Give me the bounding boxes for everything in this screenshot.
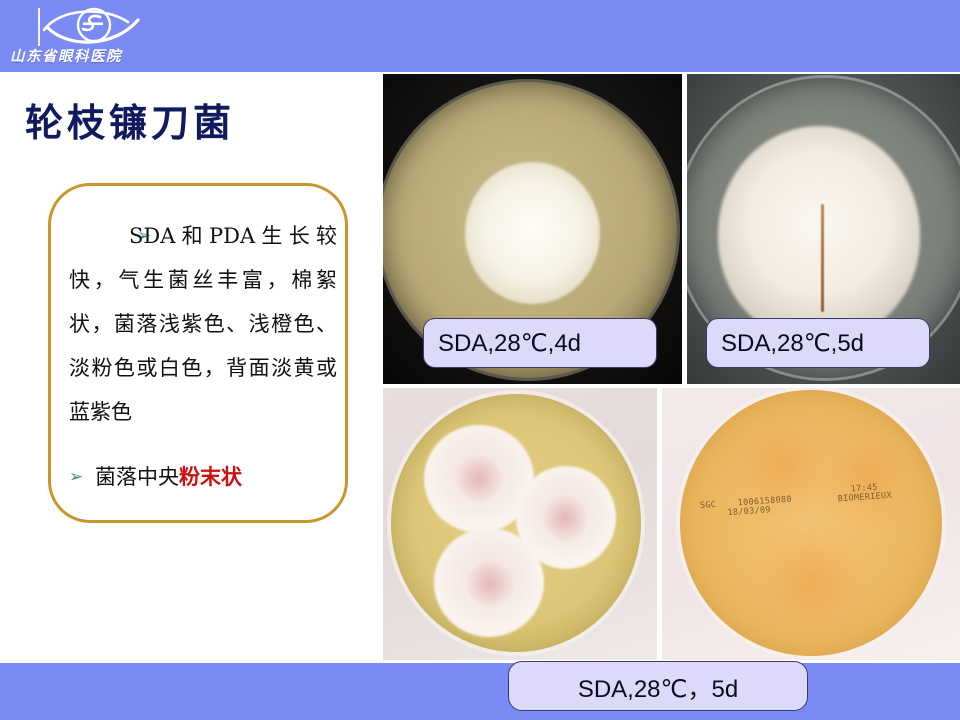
description-bullet-2: ➢菌落中央粉末状 bbox=[69, 455, 337, 499]
colony-reverse-blot bbox=[753, 528, 868, 634]
petri-dish bbox=[391, 394, 641, 652]
petri-dish-photo-reverse: SGC 1006158080 18/03/0917:45 BIOMERIEUX bbox=[662, 388, 960, 660]
description-bullet-1: ➢SDA和PDA生长较快，气生菌丝丰富，棉絮状，菌落浅紫色、浅橙色、淡粉色或白色… bbox=[69, 214, 337, 434]
petri-dish-photo-three-colonies bbox=[383, 388, 657, 660]
plate-stamp-right: 17:45 BIOMERIEUX bbox=[837, 483, 892, 505]
colony-center bbox=[457, 457, 501, 500]
description-content: ➢SDA和PDA生长较快，气生菌丝丰富，棉絮状，菌落浅紫色、浅橙色、淡粉色或白色… bbox=[69, 214, 337, 520]
colony-streak bbox=[821, 204, 824, 312]
colony-center bbox=[544, 497, 586, 540]
hospital-logo: 山东省眼科医院 bbox=[8, 2, 153, 70]
bullet-arrow-icon: ➢ bbox=[103, 214, 129, 258]
caption-bottom-sda-5d: SDA,28℃，5d bbox=[508, 661, 808, 711]
colony-center bbox=[467, 563, 513, 606]
description-bullet-2-emphasis: 粉末状 bbox=[179, 464, 242, 489]
footer-band bbox=[0, 663, 960, 720]
caption-sda-5d: SDA,28℃,5d bbox=[706, 318, 930, 368]
hospital-name-label: 山东省眼科医院 bbox=[10, 45, 153, 66]
description-box: ➢SDA和PDA生长较快，气生菌丝丰富，棉絮状，菌落浅紫色、浅橙色、淡粉色或白色… bbox=[48, 183, 348, 523]
fungal-colony bbox=[465, 162, 599, 304]
eye-logo-icon bbox=[42, 4, 144, 50]
header-band: 山东省眼科医院 bbox=[0, 0, 960, 72]
logo-tick-mark bbox=[38, 8, 40, 46]
bullet-arrow-icon: ➢ bbox=[69, 455, 95, 499]
page-title: 轮枝镰刀菌 bbox=[25, 92, 235, 147]
slide-canvas: 山东省眼科医院 轮枝镰刀菌 ➢SDA和PDA生长较快，气生菌丝丰富，棉絮状，菌落… bbox=[0, 0, 960, 720]
description-bullet-2-text: 菌落中央 bbox=[95, 465, 179, 489]
caption-sda-4d: SDA,28℃,4d bbox=[423, 318, 657, 368]
fungal-colony bbox=[718, 126, 919, 342]
fungal-colony bbox=[434, 528, 544, 636]
petri-dish bbox=[680, 390, 942, 656]
